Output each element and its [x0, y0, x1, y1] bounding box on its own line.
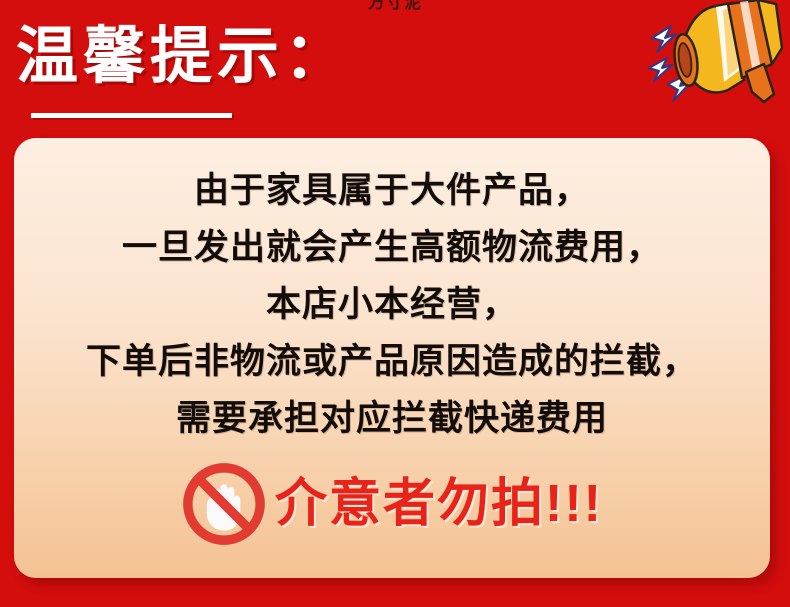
no-entry-hand-icon	[181, 461, 267, 547]
notice-line: 需要承担对应拦截快递费用	[24, 390, 760, 447]
title-underline	[31, 113, 232, 118]
warning-text: 介意者勿拍!!!	[275, 472, 603, 536]
notice-line: 本店小本经营，	[24, 276, 760, 333]
notice-text-block: 由于家具属于大件产品， 一旦发出就会产生高额物流费用， 本店小本经营， 下单后非…	[24, 162, 760, 447]
notice-line: 由于家具属于大件产品，	[24, 162, 760, 219]
notice-line: 下单后非物流或产品原因造成的拦截，	[24, 333, 760, 390]
notice-line: 一旦发出就会产生高额物流费用，	[24, 219, 760, 276]
warning-row: 介意者勿拍!!!	[24, 461, 760, 547]
promo-banner: 方寸泥 温馨提示：	[0, 0, 790, 607]
notice-card: 由于家具属于大件产品， 一旦发出就会产生高额物流费用， 本店小本经营， 下单后非…	[14, 138, 770, 578]
page-title: 温馨提示：	[16, 17, 351, 97]
megaphone-icon	[624, 0, 784, 128]
